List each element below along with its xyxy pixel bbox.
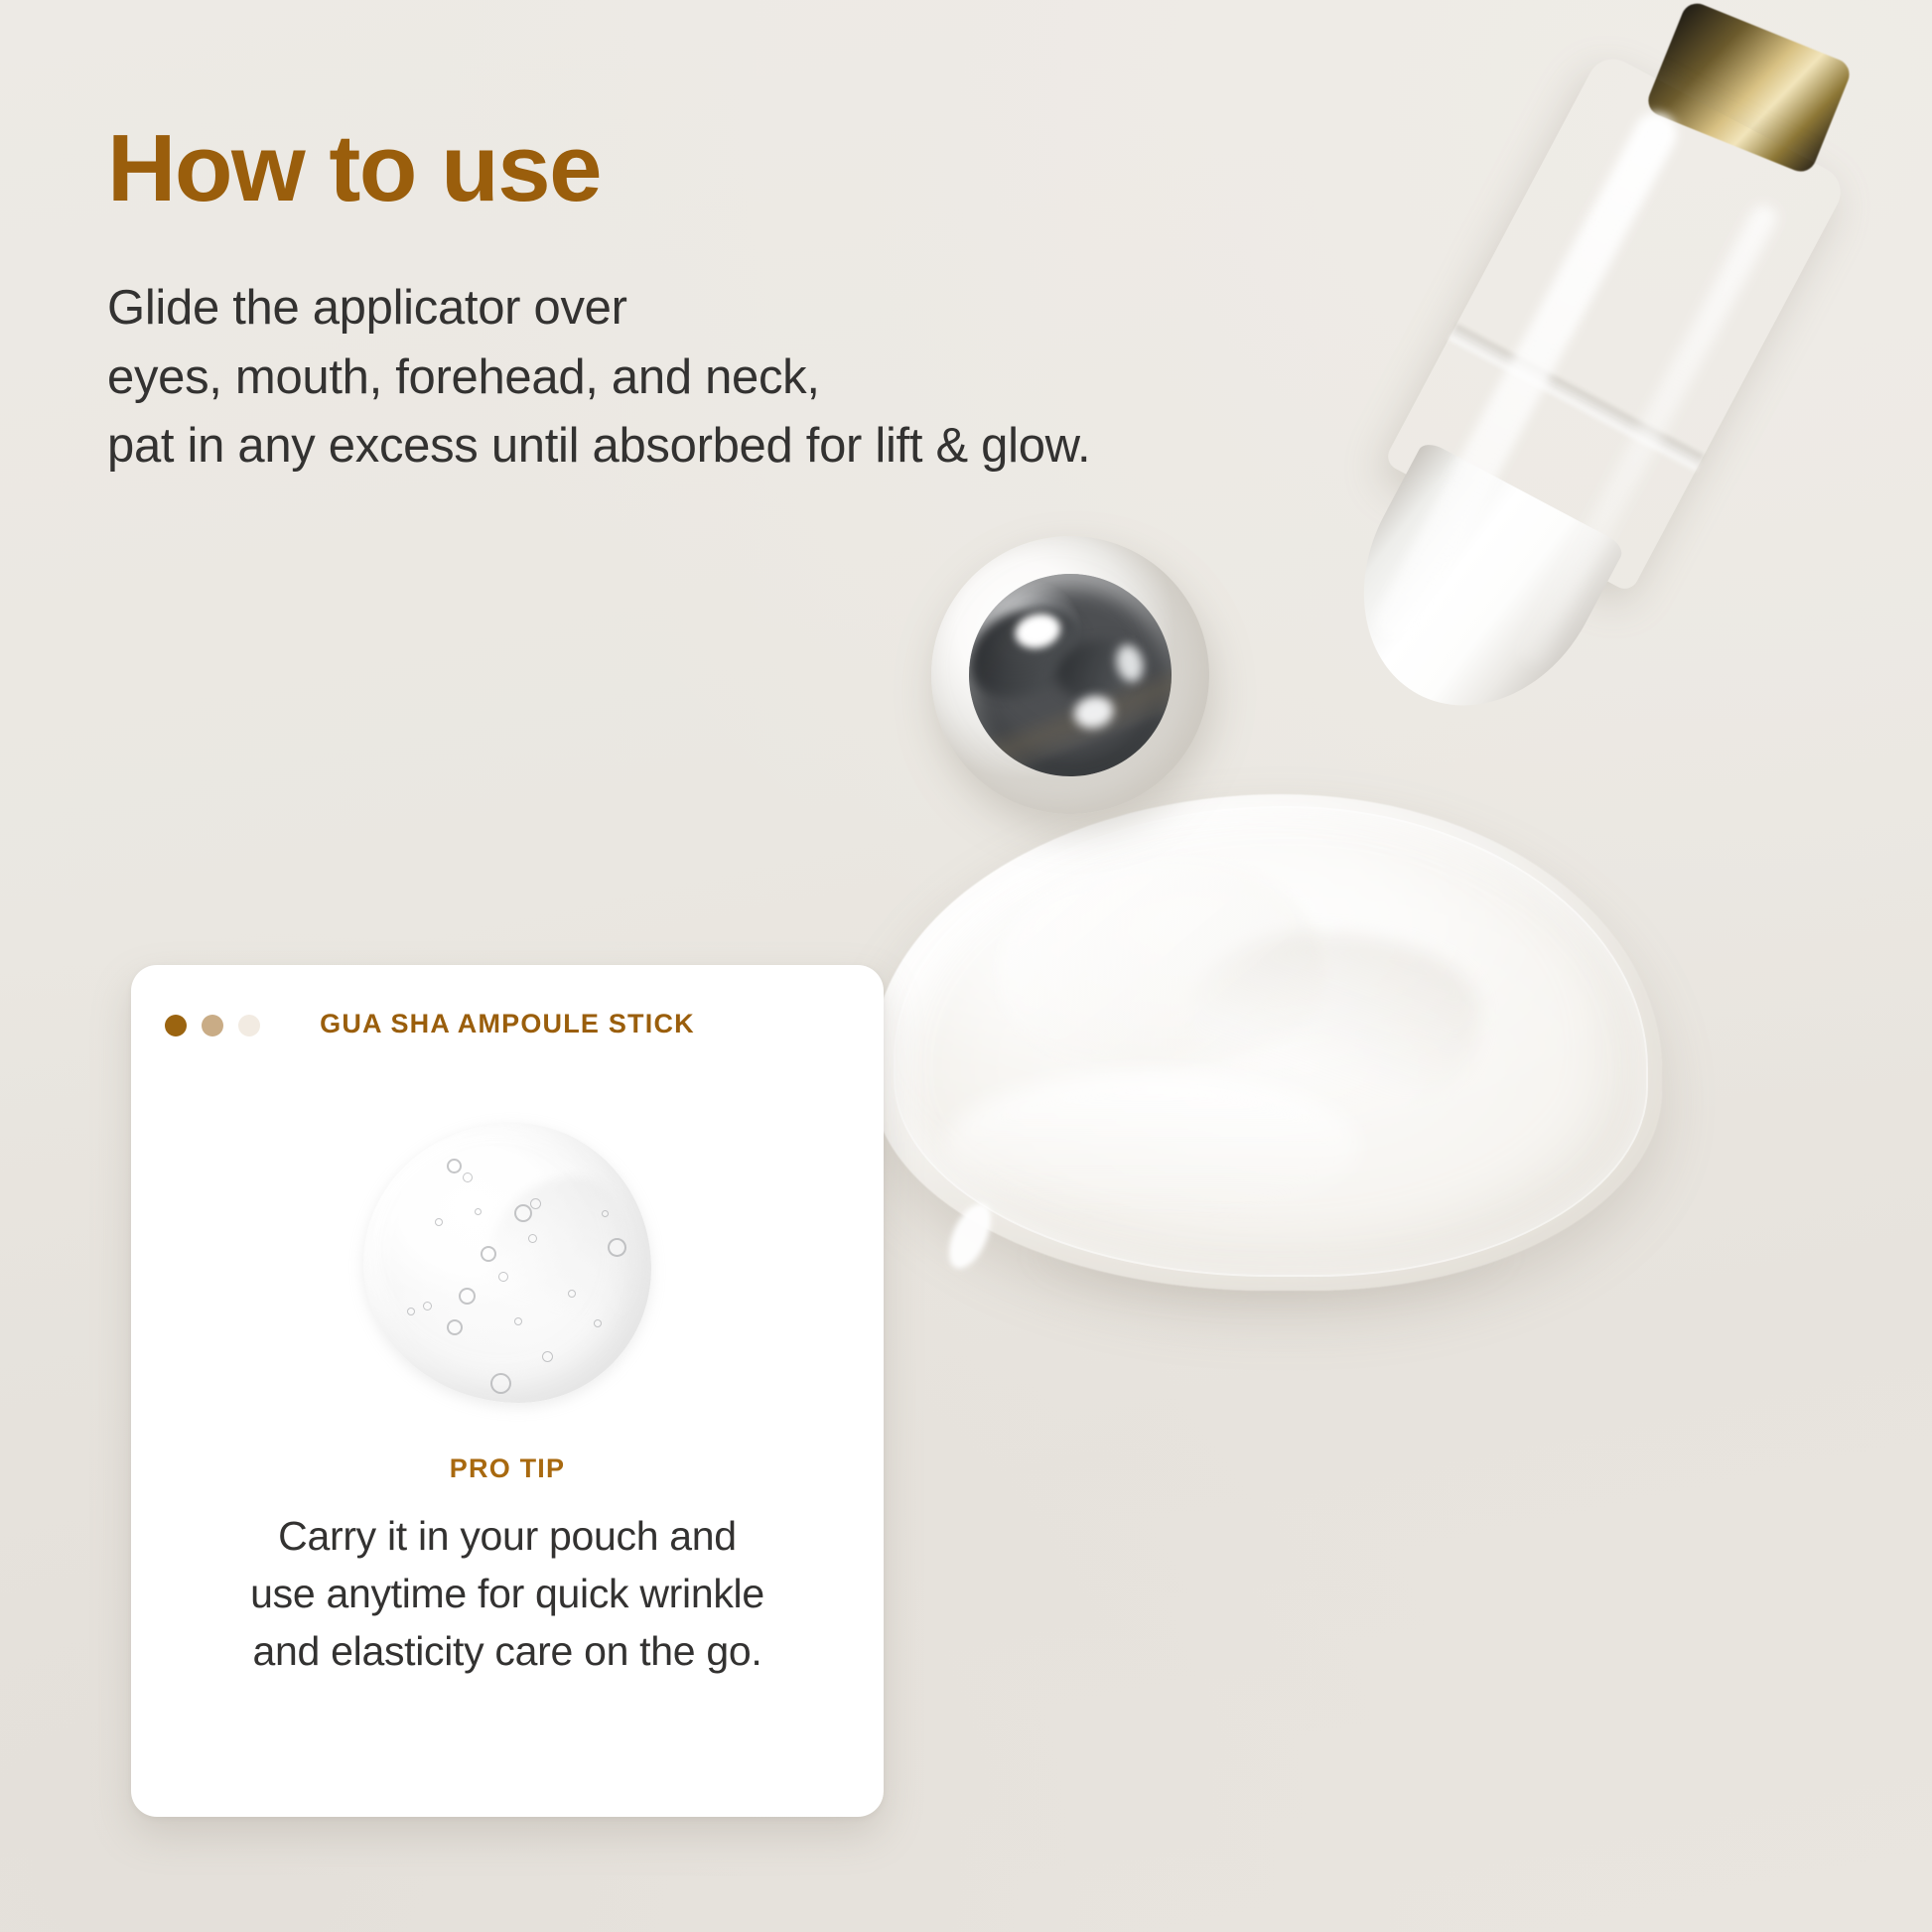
instruction-line-2: eyes, mouth, forehead, and neck, [107,344,1090,413]
protip-line-2: use anytime for quick wrinkle [131,1565,884,1622]
gel-bubble [542,1351,553,1362]
instruction-line-3: pat in any excess until absorbed for lif… [107,412,1090,482]
protip-text: Carry it in your pouch and use anytime f… [131,1507,884,1681]
gel-bubble [514,1204,532,1222]
gel-blob-swirl [488,1176,637,1355]
gel-bubble [481,1246,496,1262]
gel-bubble [608,1238,626,1257]
protip-line-3: and elasticity care on the go. [131,1622,884,1680]
gel-bubble [407,1308,415,1315]
protip-label: PRO TIP [131,1453,884,1484]
product-info-card: GUA SHA AMPOULE STICK [131,965,884,1817]
gel-texture-swatch [131,1084,884,1442]
page-title: How to use [107,121,601,216]
instruction-text: Glide the applicator over eyes, mouth, f… [107,274,1090,482]
card-header: GUA SHA AMPOULE STICK [131,965,884,1074]
protip-line-1: Carry it in your pouch and [131,1507,884,1565]
gel-bubble [530,1198,541,1209]
product-name: GUA SHA AMPOULE STICK [131,1009,884,1039]
gel-bubble [447,1319,463,1335]
gel-bubble [568,1290,576,1298]
instruction-line-1: Glide the applicator over [107,274,1090,344]
gel-bubble [423,1302,432,1311]
gel-blob [363,1123,651,1403]
gel-bubble [475,1208,482,1215]
gel-bubble [498,1272,508,1282]
gel-bubble [514,1317,522,1325]
gel-bubble [594,1319,602,1327]
promo-image: How to use Glide the applicator over eye… [0,0,1932,1932]
gel-bubble [447,1159,462,1173]
gel-bubble [602,1210,609,1217]
gel-bubble [490,1373,511,1394]
gua-sha-ampoule-stick-applicator [1242,42,1865,839]
gel-bubble [528,1234,537,1243]
gel-puddle-swirl [943,1072,1360,1221]
gel-bubble [435,1218,443,1226]
gel-bubble [463,1173,473,1182]
gel-bubble [459,1288,476,1305]
